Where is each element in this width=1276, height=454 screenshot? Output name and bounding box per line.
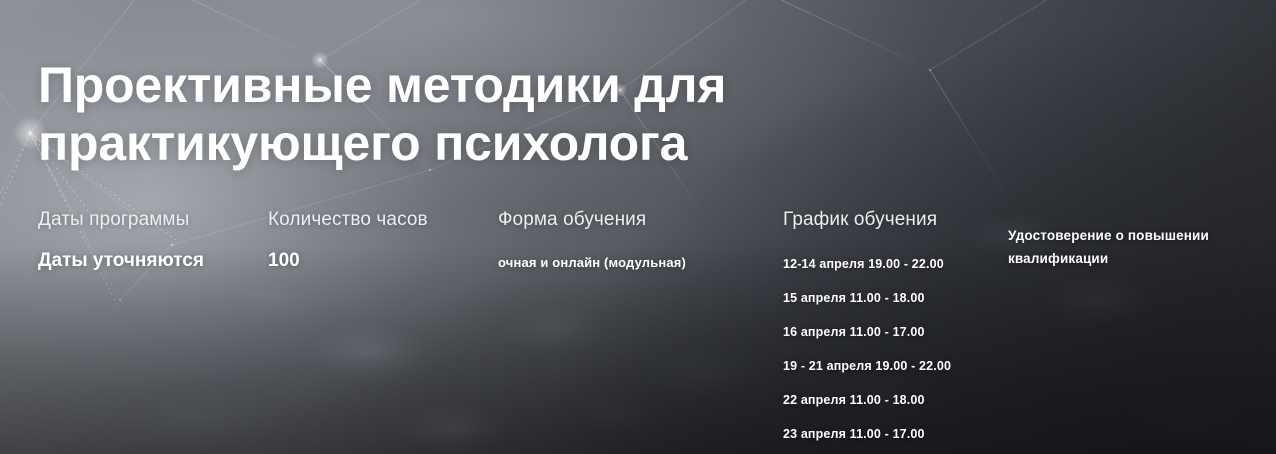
info-column-hours: Количество часов 100 [268,208,428,273]
info-column-hours-header: Количество часов [268,208,428,232]
info-column-format: Форма обучения очная и онлайн (модульная… [498,208,686,272]
hero-banner: Проективные методики для практикующего п… [0,0,1276,454]
info-column-dates-header: Даты программы [38,208,204,232]
info-column-certificate: Удостоверение о повышении квалификации [1008,224,1266,270]
info-columns: Даты программы Даты уточняются Количеств… [0,208,1276,448]
info-column-dates: Даты программы Даты уточняются [38,208,204,273]
schedule-item: 23 апреля 11.00 - 17.00 [783,426,951,442]
page-title: Проективные методики для практикующего п… [38,56,938,172]
schedule-list: 12-14 апреля 19.00 - 22.00 15 апреля 11.… [783,256,951,442]
info-column-dates-value: Даты уточняются [38,249,204,273]
schedule-item: 16 апреля 11.00 - 17.00 [783,324,951,340]
schedule-item: 19 - 21 апреля 19.00 - 22.00 [783,358,951,374]
schedule-item: 12-14 апреля 19.00 - 22.00 [783,256,951,272]
info-column-hours-value: 100 [268,249,428,273]
info-column-schedule: График обучения 12-14 апреля 19.00 - 22.… [783,208,951,454]
schedule-item: 15 апреля 11.00 - 18.00 [783,290,951,306]
certificate-text: Удостоверение о повышении квалификации [1008,224,1266,270]
info-column-schedule-header: График обучения [783,208,951,232]
schedule-item: 22 апреля 11.00 - 18.00 [783,392,951,408]
info-column-format-header: Форма обучения [498,208,686,232]
info-column-format-value: очная и онлайн (модульная) [498,254,686,272]
